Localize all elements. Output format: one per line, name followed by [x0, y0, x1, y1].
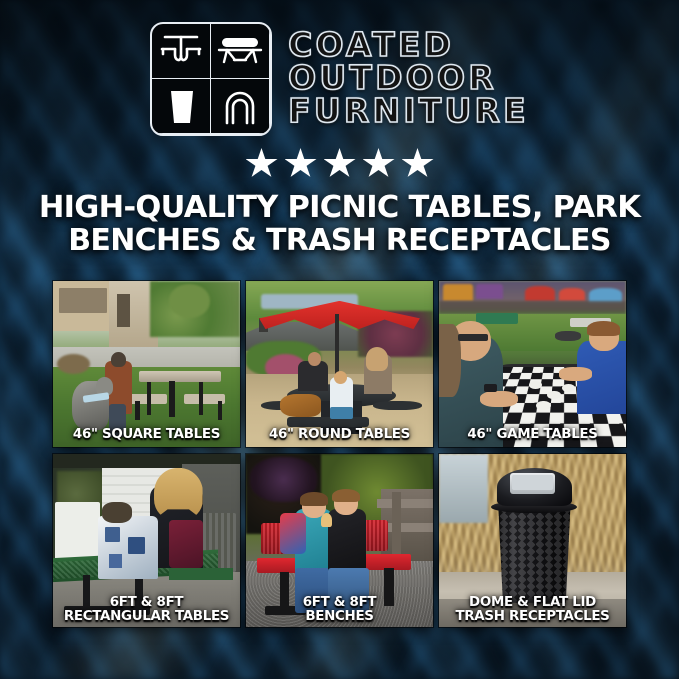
tile-caption-line-1: DOME & FLAT LID — [443, 596, 622, 610]
headline-line-1: HIGH-QUALITY PICNIC TABLES, PARK — [27, 192, 652, 225]
tile-caption-line-1: 46" GAME TABLES — [443, 428, 622, 442]
tile-caption-line-1: 6FT & 8FT — [57, 596, 236, 610]
picnic-table-front-icon — [151, 23, 211, 79]
wordmark-line-3: FURNITURE — [288, 95, 529, 127]
headline-line-2: BENCHES & TRASH RECEPTACLES — [27, 225, 652, 257]
bike-rack-arch-icon — [210, 78, 270, 134]
star-icon — [246, 148, 278, 179]
star-icon — [324, 148, 356, 179]
star-icon — [402, 148, 434, 179]
star-icon — [363, 148, 395, 179]
product-tile-square-tables[interactable]: 46" SQUARE TABLES — [53, 281, 240, 447]
wordmark-line-2: OUTDOOR — [288, 62, 529, 94]
tile-caption-line-1: 6FT & 8FT — [250, 596, 429, 610]
tile-caption: 6FT & 8FT RECTANGULAR TABLES — [53, 596, 240, 624]
poster: COATED OUTDOOR FURNITURE HIGH-QUALITY PI… — [0, 0, 679, 679]
product-photo-game-tables — [439, 281, 626, 447]
tile-caption: DOME & FLAT LID TRASH RECEPTACLES — [439, 596, 626, 624]
bench-table-side-icon — [210, 23, 270, 79]
brand-wordmark: COATED OUTDOOR FURNITURE — [288, 29, 529, 130]
product-photo-square-tables — [53, 281, 240, 447]
star-rating — [0, 148, 679, 179]
product-tile-round-tables[interactable]: 46" ROUND TABLES — [246, 281, 433, 447]
product-photo-round-tables — [246, 281, 433, 447]
product-tile-benches[interactable]: 6FT & 8FT BENCHES — [246, 454, 433, 627]
tile-caption: 6FT & 8FT BENCHES — [246, 596, 433, 624]
trash-receptacle-icon — [151, 78, 211, 134]
tile-caption-line-2: TRASH RECEPTACLES — [443, 610, 622, 624]
tile-caption-line-2: BENCHES — [250, 610, 429, 624]
logo-icon-grid — [150, 22, 272, 136]
tile-caption-line-1: 46" ROUND TABLES — [250, 428, 429, 442]
tile-caption-line-2: RECTANGULAR TABLES — [57, 610, 236, 624]
product-tile-game-tables[interactable]: 46" GAME TABLES — [439, 281, 626, 447]
product-tile-rectangular-tables[interactable]: 6FT & 8FT RECTANGULAR TABLES — [53, 454, 240, 627]
product-tile-trash-receptacles[interactable]: DOME & FLAT LID TRASH RECEPTACLES — [439, 454, 626, 627]
tile-caption: 46" SQUARE TABLES — [53, 428, 240, 442]
product-tile-grid: 46" SQUARE TABLES — [53, 281, 626, 627]
star-icon — [285, 148, 317, 179]
page-title: HIGH-QUALITY PICNIC TABLES, PARK BENCHES… — [27, 192, 652, 257]
wordmark-line-1: COATED — [288, 29, 529, 61]
tile-caption-line-1: 46" SQUARE TABLES — [57, 428, 236, 442]
brand-logo: COATED OUTDOOR FURNITURE — [0, 0, 679, 136]
tile-caption: 46" ROUND TABLES — [246, 428, 433, 442]
tile-caption: 46" GAME TABLES — [439, 428, 626, 442]
